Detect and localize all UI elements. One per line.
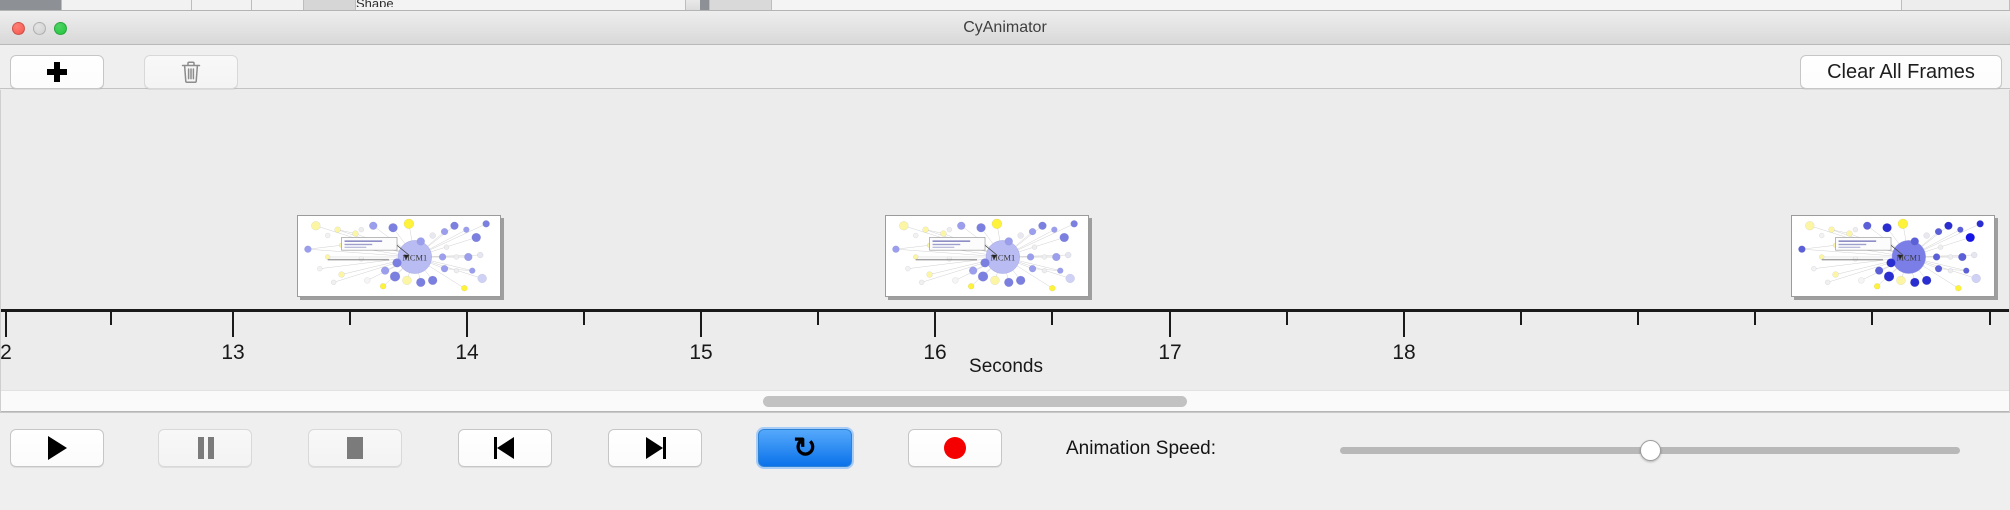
animation-speed-slider[interactable]: [1340, 447, 1960, 454]
ruler-tick: [110, 312, 112, 325]
central-node-label: MCM1: [402, 254, 427, 263]
clear-all-frames-button[interactable]: Clear All Frames: [1800, 55, 2002, 89]
window-titlebar: CyAnimator: [0, 11, 2010, 45]
loop-icon: ↻: [793, 434, 816, 462]
frame-thumbnail-2[interactable]: MCM1: [885, 215, 1089, 297]
ruler-tick: [817, 312, 819, 325]
ruler-tick: [934, 312, 936, 337]
cyanimator-window: Shape CyAnimator Clear All Frames MCM1MC…: [0, 0, 2010, 510]
ruler-tick: [1051, 312, 1053, 325]
ruler-tick: [1403, 312, 1405, 337]
ruler-tick: [1520, 312, 1522, 325]
ruler-tick: [700, 312, 702, 337]
record-button[interactable]: [908, 429, 1002, 467]
network-graph: MCM1: [298, 216, 500, 296]
record-icon: [944, 437, 966, 459]
network-graph: MCM1: [886, 216, 1088, 296]
animation-speed-label: Animation Speed:: [1066, 438, 1216, 460]
window-title: CyAnimator: [0, 11, 2010, 45]
pause-icon: [195, 437, 215, 459]
ruler-tick: [1169, 312, 1171, 337]
central-node-label: MCM1: [1896, 254, 1921, 263]
ruler-tick: [583, 312, 585, 325]
ruler-tick: [1286, 312, 1288, 325]
central-node-label: MCM1: [990, 254, 1015, 263]
frame-track[interactable]: MCM1MCM1MCM1: [1, 90, 2010, 310]
timeline-panel[interactable]: MCM1MCM1MCM1 2131415161718 Seconds: [0, 90, 2010, 412]
background-app-label: Shape: [356, 0, 476, 7]
background-app-strip: Shape: [0, 0, 2010, 11]
ruler-tick: [232, 312, 234, 337]
frames-toolbar: Clear All Frames: [0, 45, 2010, 89]
plus-icon: [46, 61, 68, 83]
skip-to-end-button[interactable]: [608, 429, 702, 467]
timeline-horizontal-scrollbar[interactable]: [1, 390, 2010, 412]
stop-button[interactable]: [308, 429, 402, 467]
ruler-tick: [466, 312, 468, 337]
frame-thumbnail-1[interactable]: MCM1: [297, 215, 501, 297]
skip-forward-icon: [644, 437, 666, 459]
trash-icon: [180, 60, 202, 84]
playback-controlbar: ↻ Animation Speed:: [0, 412, 2010, 510]
delete-frame-button[interactable]: [144, 55, 238, 89]
pause-button[interactable]: [158, 429, 252, 467]
ruler-tick: [1989, 312, 1991, 325]
skip-back-icon: [494, 437, 516, 459]
add-frame-button[interactable]: [10, 55, 104, 89]
ruler-tick: [1871, 312, 1873, 325]
clear-all-frames-label: Clear All Frames: [1827, 61, 1975, 84]
scrollbar-thumb[interactable]: [763, 396, 1187, 407]
ruler-tick: [5, 312, 7, 337]
ruler-tick: [1637, 312, 1639, 325]
network-graph: MCM1: [1792, 216, 1994, 296]
ruler-tick: [349, 312, 351, 325]
frame-thumbnail-3[interactable]: MCM1: [1791, 215, 1995, 297]
play-icon: [48, 436, 67, 460]
stop-icon: [347, 437, 363, 459]
skip-to-start-button[interactable]: [458, 429, 552, 467]
loop-button[interactable]: ↻: [758, 429, 852, 467]
timeline-ruler: 2131415161718: [1, 309, 2010, 310]
ruler-baseline: [1, 309, 2010, 312]
axis-title: Seconds: [1, 356, 2010, 378]
play-button[interactable]: [10, 429, 104, 467]
animation-speed-slider-thumb[interactable]: [1640, 440, 1661, 461]
ruler-tick: [1754, 312, 1756, 325]
